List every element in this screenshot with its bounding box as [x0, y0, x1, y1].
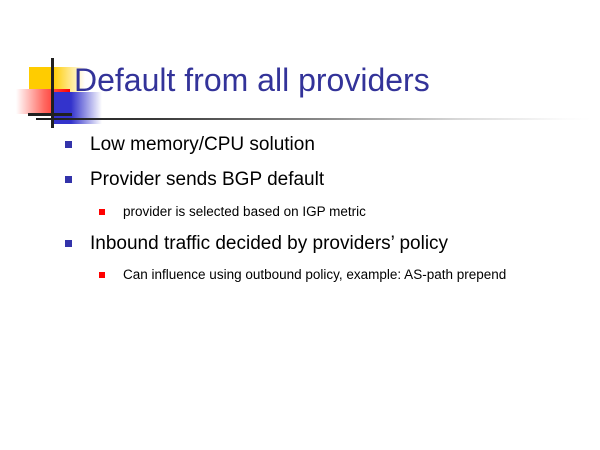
bullet-marker-square-blue [65, 176, 72, 183]
title-underline-rule [36, 118, 591, 120]
slide-title: Default from all providers [74, 61, 430, 99]
bullet-item-level2: provider is selected based on IGP metric [60, 202, 553, 222]
bullet-item-level2: Can influence using outbound policy, exa… [60, 265, 553, 285]
slide-body: Low memory/CPU solution Provider sends B… [60, 132, 580, 291]
bullet-item-level1: Inbound traffic decided by providers’ po… [60, 231, 580, 257]
bullet-item-level1: Provider sends BGP default [60, 167, 580, 193]
presentation-slide: Default from all providers Low memory/CP… [0, 0, 600, 450]
bullet-text: provider is selected based on IGP metric [123, 204, 366, 219]
bullet-text: Provider sends BGP default [90, 169, 324, 190]
bullet-marker-square-red [99, 209, 105, 215]
bullet-item-level1: Low memory/CPU solution [60, 132, 580, 158]
logo-horizontal-line [28, 113, 72, 116]
bullet-marker-square-red [99, 272, 105, 278]
bullet-marker-square-blue [65, 240, 72, 247]
bullet-text: Can influence using outbound policy, exa… [123, 267, 506, 282]
bullet-marker-square-blue [65, 141, 72, 148]
logo-red-block [16, 89, 70, 114]
bullet-text: Inbound traffic decided by providers’ po… [90, 233, 448, 254]
bullet-text: Low memory/CPU solution [90, 134, 315, 155]
